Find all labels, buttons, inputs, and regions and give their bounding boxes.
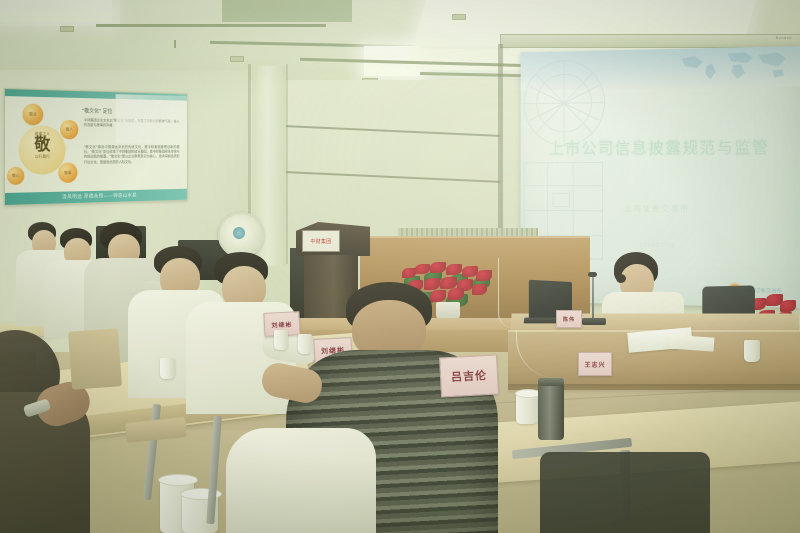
- banner-center-char: 敬: [19, 137, 66, 154]
- petal: [476, 270, 492, 281]
- chair-back-wood[interactable]: [68, 328, 122, 389]
- placard-name: 刘继彬: [271, 319, 292, 329]
- speaker-hair-side: [616, 274, 626, 283]
- banner-ball: 敬事: [58, 162, 77, 183]
- petal: [402, 268, 416, 278]
- name-placard: 吕吉伦: [439, 355, 499, 398]
- petal: [415, 264, 430, 274]
- petal: [424, 278, 440, 290]
- ceiling-green-panel: [222, 0, 352, 22]
- banner-paragraph-2: "敬文化"源自中国源远流长的传统文化，是中财集团管理创新的基石。"敬文化"定位体…: [84, 145, 180, 187]
- name-placard: 王志兴: [578, 352, 612, 376]
- placard-name: 陈伟: [563, 316, 575, 323]
- chair-seat-foreground[interactable]: [540, 452, 710, 533]
- banner-ball: 敬心: [7, 167, 24, 185]
- projection-screen-housing: [500, 34, 800, 48]
- banner-ball: 敬人: [60, 120, 78, 140]
- paper-cup: [744, 340, 760, 362]
- placard-name: 王志兴: [584, 360, 605, 369]
- ceiling-vent: [230, 56, 244, 62]
- bottom-person-torso: [226, 428, 376, 533]
- ceiling-hook: [174, 40, 176, 48]
- paper-cup: [274, 330, 288, 350]
- petal: [430, 290, 446, 302]
- conference-room-photo: 做事之人 敬 以行载行 敬业 敬人 敬事 敬心 "敬文化" 定位 中财集团企业文…: [0, 0, 800, 533]
- thermos-flask[interactable]: [538, 382, 564, 440]
- petal: [780, 300, 796, 312]
- microphone-head[interactable]: [588, 272, 597, 277]
- paper-cup: [298, 334, 312, 354]
- paper-cup-rim: [158, 474, 198, 486]
- banner-center-bottom-label: 以行载行: [19, 154, 66, 160]
- screen-brand-label: Bonded: [776, 36, 792, 40]
- ceiling-vent: [452, 14, 466, 20]
- ceiling-light-panel: [0, 0, 112, 22]
- wall-banner: 做事之人 敬 以行载行 敬业 敬人 敬事 敬心 "敬文化" 定位 中财集团企业文…: [4, 88, 188, 206]
- banner-ball: 敬业: [22, 103, 43, 125]
- microphone-base: [582, 318, 606, 325]
- ceiling-beam: [96, 24, 326, 27]
- banner-glare: [116, 94, 188, 143]
- petal: [472, 284, 487, 295]
- fan-hub-icon: [233, 227, 245, 239]
- placard-name: 吕吉伦: [451, 367, 488, 385]
- microphone-stand: [592, 276, 594, 322]
- name-placard: 陈伟: [556, 310, 582, 328]
- podium-sign: 中财集团: [302, 230, 340, 252]
- thermos-lid[interactable]: [538, 378, 564, 386]
- wall-edge: [286, 64, 288, 264]
- petal: [430, 262, 446, 273]
- petal: [446, 264, 462, 275]
- ceiling-vent: [60, 26, 74, 32]
- paper-cup: [160, 358, 175, 379]
- petal: [448, 288, 464, 300]
- podium-sign-text: 中财集团: [310, 238, 331, 245]
